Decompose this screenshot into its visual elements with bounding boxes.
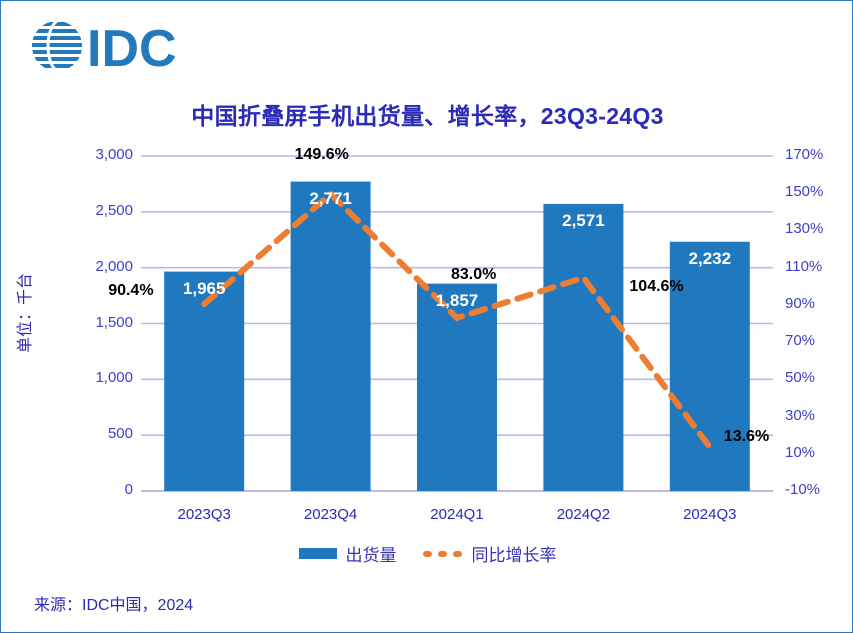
legend-label-growth-rate: 同比增长率 [472, 541, 557, 566]
growth-label-2023Q4: 149.6% [295, 146, 349, 164]
y2-tick--10%: -10% [785, 481, 853, 498]
y-tick-1,500: 1,500 [63, 314, 133, 331]
x-tick-2024Q3: 2024Q3 [650, 506, 770, 523]
growth-label-2024Q2: 104.6% [629, 278, 683, 296]
y-axis-title: 单位：千台 [11, 253, 35, 373]
y2-tick-90%: 90% [785, 295, 853, 312]
y2-tick-10%: 10% [785, 444, 853, 461]
x-tick-2024Q2: 2024Q2 [523, 506, 643, 523]
y-tick-1,000: 1,000 [63, 369, 133, 386]
source-note: 来源：IDC中国，2024 [34, 591, 193, 615]
y2-tick-50%: 50% [785, 369, 853, 386]
y2-tick-170%: 170% [785, 146, 853, 163]
y2-tick-70%: 70% [785, 332, 853, 349]
legend-item-growth-rate[interactable]: 同比增长率 [423, 541, 557, 566]
legend-item-shipments[interactable]: 出货量 [299, 541, 397, 566]
bar-label-2023Q3: 1,965 [144, 279, 264, 299]
growth-label-2023Q3: 90.4% [108, 282, 153, 300]
y-tick-2,500: 2,500 [63, 202, 133, 219]
bar-label-2024Q1: 1,857 [397, 291, 517, 311]
legend-dashed-line-swatch-icon [423, 551, 463, 557]
x-tick-2023Q3: 2023Q3 [144, 506, 264, 523]
growth-label-2024Q3: 13.6% [724, 428, 769, 446]
y-tick-500: 500 [63, 425, 133, 442]
bar-label-2024Q2: 2,571 [523, 211, 643, 231]
y-tick-0: 0 [63, 481, 133, 498]
bar-2024Q2[interactable] [543, 204, 623, 491]
x-tick-2023Q4: 2023Q4 [271, 506, 391, 523]
y2-tick-130%: 130% [785, 220, 853, 237]
y2-tick-30%: 30% [785, 407, 853, 424]
bar-label-2023Q4: 2,771 [271, 189, 391, 209]
bar-2023Q4[interactable] [291, 182, 371, 491]
x-tick-2024Q1: 2024Q1 [397, 506, 517, 523]
chart-page: IDC 中国折叠屏手机出货量、增长率，23Q3-24Q3 单位：千台 3,000… [0, 0, 853, 633]
legend-bar-swatch-icon [299, 548, 337, 559]
growth-label-2024Q1: 83.0% [451, 266, 496, 284]
bar-series [164, 182, 750, 491]
chart-plot-area: 单位：千台 3,0002,5002,0001,5001,0005000 170%… [1, 1, 853, 633]
y-tick-3,000: 3,000 [63, 146, 133, 163]
y2-tick-150%: 150% [785, 183, 853, 200]
legend-label-shipments: 出货量 [346, 541, 397, 566]
y2-tick-110%: 110% [785, 258, 853, 275]
bar-label-2024Q3: 2,232 [650, 249, 770, 269]
y-tick-2,000: 2,000 [63, 258, 133, 275]
chart-legend: 出货量 同比增长率 [1, 541, 853, 566]
